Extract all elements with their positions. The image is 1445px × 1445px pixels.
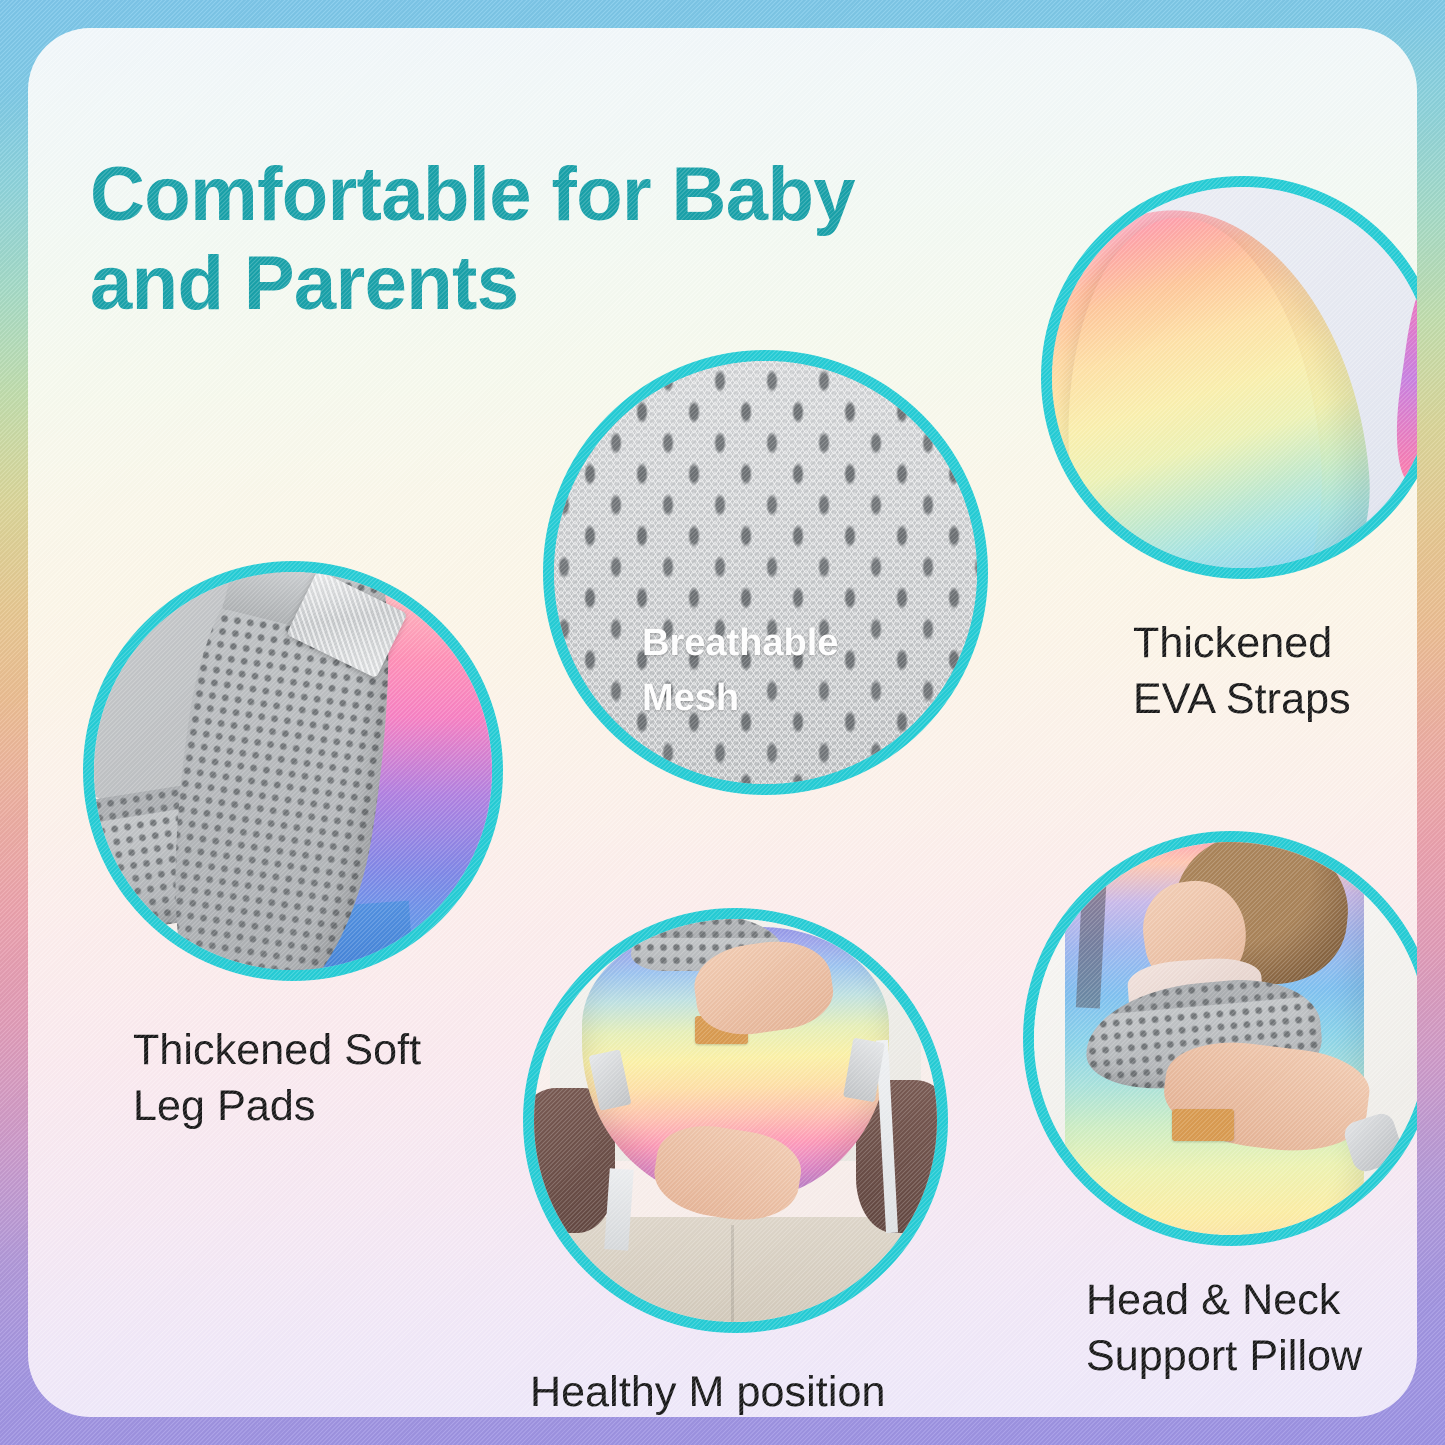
feature-circle-eva-straps	[1041, 176, 1417, 579]
page-title: Comfortable for Baby and Parents	[90, 151, 1070, 329]
m-position-photo	[534, 919, 937, 1322]
carrier-webbing-left	[604, 1168, 634, 1250]
infographic-card: Comfortable for Baby and Parents Breatha…	[28, 28, 1417, 1417]
parent-pants-seam	[731, 1225, 734, 1322]
leg-pads-photo	[94, 572, 492, 970]
infographic-frame: Comfortable for Baby and Parents Breatha…	[0, 0, 1445, 1445]
feature-circle-leg-pads	[83, 561, 503, 981]
brand-tag	[1172, 1109, 1235, 1140]
label-m-position: Healthy M position	[530, 1365, 886, 1417]
head-neck-photo	[1034, 842, 1417, 1235]
eva-straps-photo	[1052, 187, 1417, 568]
feature-circle-breathable-mesh: Breathable Mesh	[543, 350, 988, 795]
feature-circle-m-position	[523, 908, 948, 1333]
label-leg-pads: Thickened Soft Leg Pads	[133, 1023, 421, 1135]
breathable-mesh-overlay-label: Breathable Mesh	[642, 616, 838, 726]
label-head-neck-pillow: Head & Neck Support Pillow	[1086, 1273, 1362, 1385]
label-eva-straps: Thickened EVA Straps	[1133, 616, 1351, 728]
feature-circle-head-neck-pillow	[1023, 831, 1417, 1246]
